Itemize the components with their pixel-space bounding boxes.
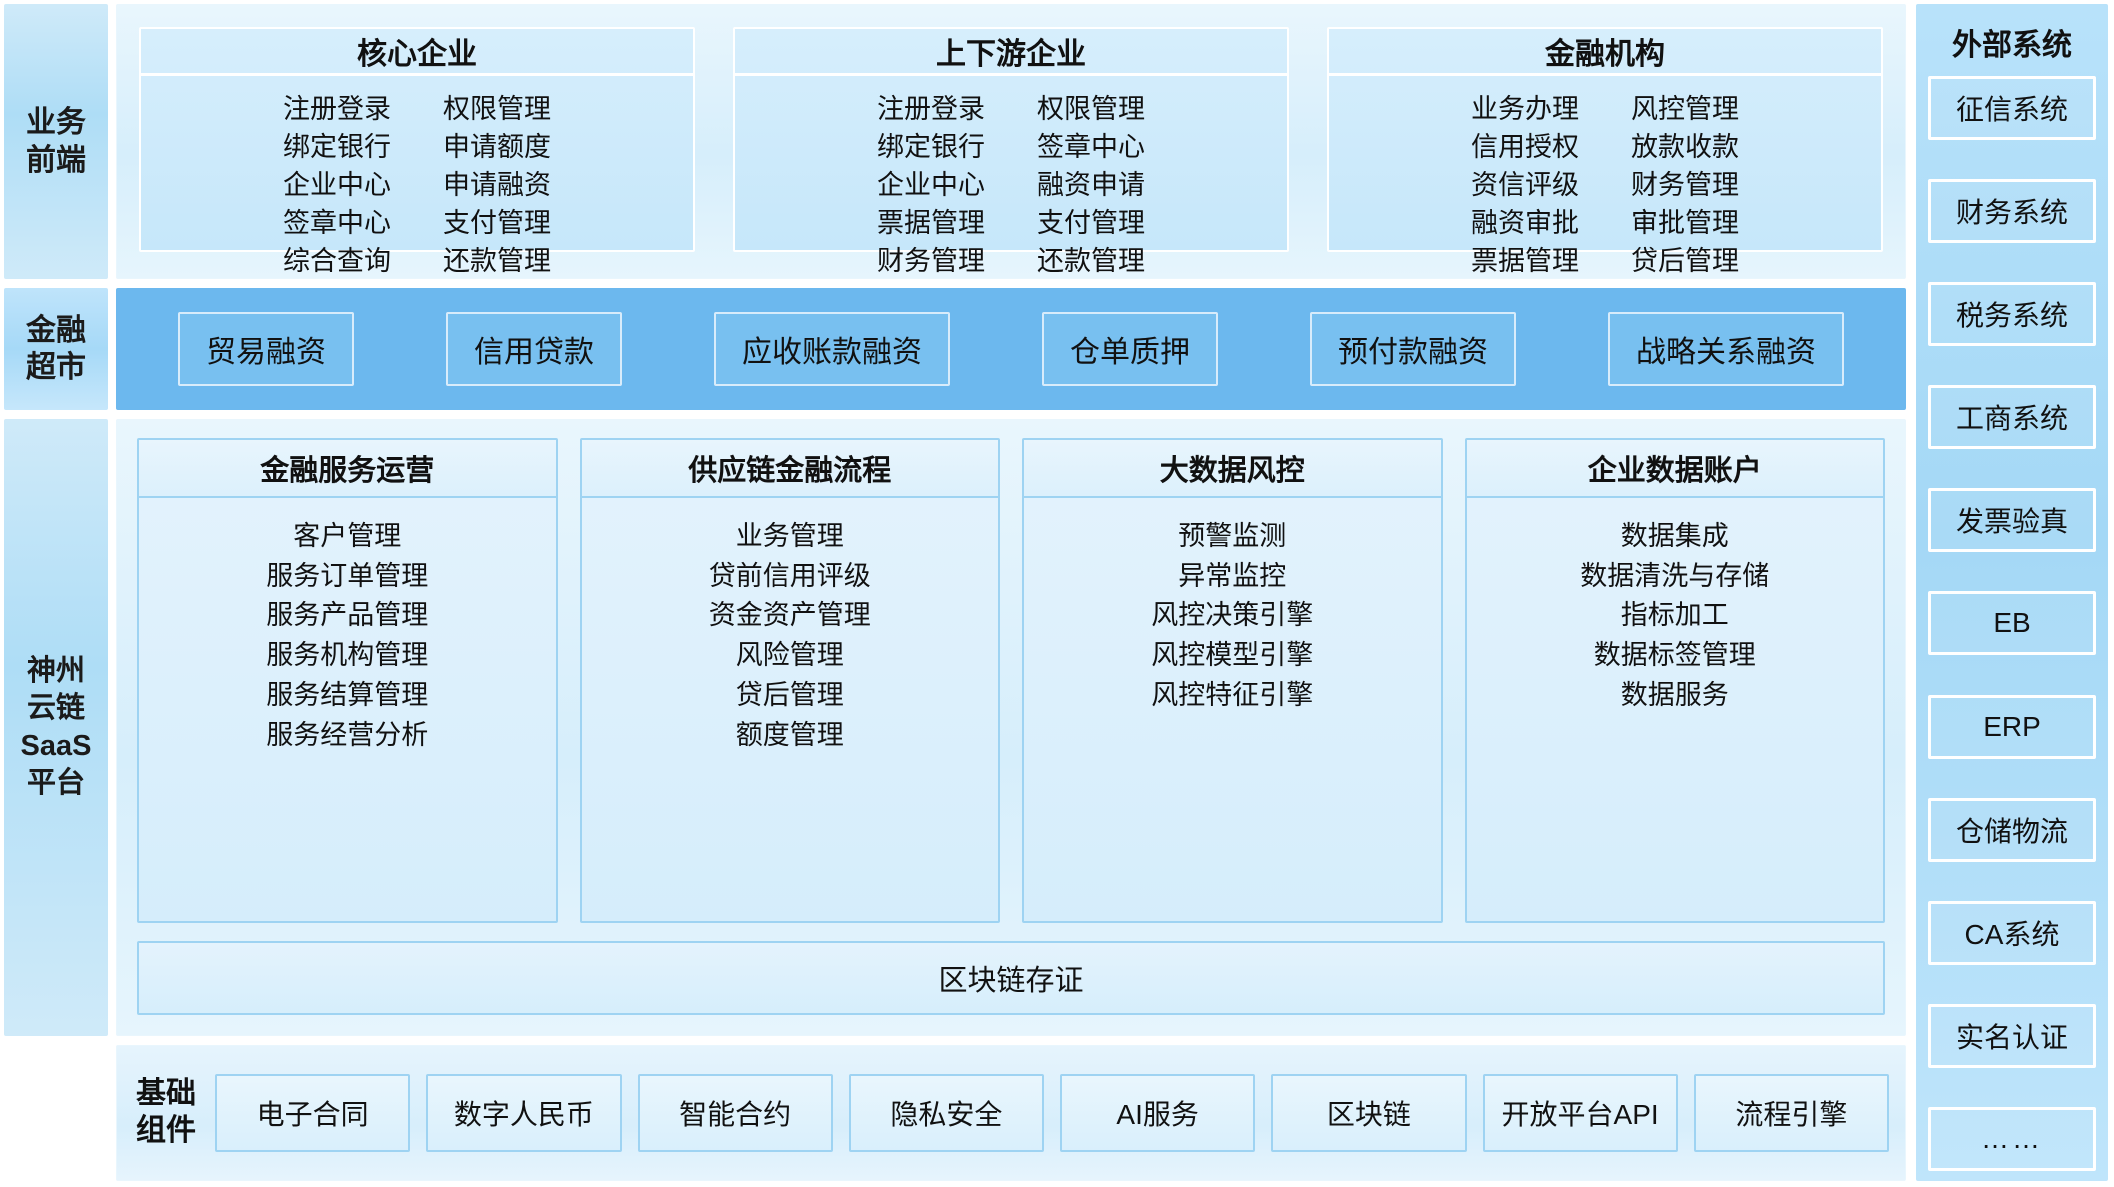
saas-item[interactable]: 贷后管理 [736, 677, 844, 714]
base-chip-blockchain[interactable]: 区块链 [1271, 1074, 1466, 1152]
base-chip-privacy-security[interactable]: 隐私安全 [849, 1074, 1044, 1152]
front-item[interactable]: 注册登录 [283, 92, 391, 128]
band-body-financial-market: 贸易融资 信用贷款 应收账款融资 仓单质押 预付款融资 战略关系融资 [116, 288, 1906, 410]
front-item[interactable]: 审批管理 [1631, 206, 1739, 242]
band-body-saas-platform: 金融服务运营 客户管理 服务订单管理 服务产品管理 服务机构管理 服务结算管理 … [116, 419, 1906, 1036]
architecture-diagram: 业务前端 核心企业 注册登录 绑定银行 企业中心 签章中心 综合查询 权限管理 [0, 0, 2114, 1187]
front-card-column-right: 权限管理 签章中心 融资申请 支付管理 还款管理 [1037, 92, 1145, 280]
front-item[interactable]: 业务办理 [1471, 92, 1579, 128]
base-chip-smart-contract[interactable]: 智能合约 [638, 1074, 833, 1152]
saas-item[interactable]: 资金资产管理 [709, 597, 871, 634]
external-systems-list: 征信系统 财务系统 税务系统 工商系统 发票验真 EB ERP 仓储物流 CA系… [1928, 76, 2096, 1171]
saas-item[interactable]: 额度管理 [736, 717, 844, 754]
saas-item[interactable]: 服务机构管理 [266, 637, 428, 674]
base-chip-digital-rmb[interactable]: 数字人民币 [426, 1074, 621, 1152]
band-saas-platform: 神州云链SaaS平台 金融服务运营 客户管理 服务订单管理 服务产品管理 服务机… [4, 419, 1906, 1036]
front-card-core-enterprise[interactable]: 核心企业 注册登录 绑定银行 企业中心 签章中心 综合查询 权限管理 申请额度 [139, 27, 695, 252]
front-item[interactable]: 贷后管理 [1631, 244, 1739, 280]
saas-card-list: 数据集成 数据清洗与存储 指标加工 数据标签管理 数据服务 [1467, 498, 1884, 921]
front-item[interactable]: 资信评级 [1471, 168, 1579, 204]
front-card-column-left: 业务办理 信用授权 资信评级 融资审批 票据管理 [1471, 92, 1579, 280]
saas-item[interactable]: 数据服务 [1621, 677, 1729, 714]
saas-item[interactable]: 服务产品管理 [266, 597, 428, 634]
sidebar-item-eb[interactable]: EB [1928, 591, 2096, 655]
saas-item[interactable]: 服务经营分析 [266, 717, 428, 754]
saas-card-group: 金融服务运营 客户管理 服务订单管理 服务产品管理 服务机构管理 服务结算管理 … [137, 438, 1885, 923]
saas-card-enterprise-data-account[interactable]: 企业数据账户 数据集成 数据清洗与存储 指标加工 数据标签管理 数据服务 [1465, 438, 1886, 923]
front-item[interactable]: 权限管理 [443, 92, 551, 128]
front-item[interactable]: 企业中心 [877, 168, 985, 204]
front-item[interactable]: 综合查询 [283, 244, 391, 280]
front-item[interactable]: 还款管理 [443, 244, 551, 280]
market-chip-prepayment-finance[interactable]: 预付款融资 [1310, 312, 1516, 386]
external-systems-sidebar: 外部系统 征信系统 财务系统 税务系统 工商系统 发票验真 EB ERP 仓储物… [1916, 4, 2108, 1181]
saas-card-list: 客户管理 服务订单管理 服务产品管理 服务机构管理 服务结算管理 服务经营分析 [139, 498, 556, 921]
saas-item[interactable]: 风控特征引擎 [1151, 677, 1313, 714]
sidebar-item-credit-system[interactable]: 征信系统 [1928, 76, 2096, 140]
front-card-upstream-downstream[interactable]: 上下游企业 注册登录 绑定银行 企业中心 票据管理 财务管理 权限管理 签章中心 [733, 27, 1289, 252]
saas-card-supply-chain-finance-process[interactable]: 供应链金融流程 业务管理 贷前信用评级 资金资产管理 风险管理 贷后管理 额度管… [580, 438, 1001, 923]
market-chip-credit-loan[interactable]: 信用贷款 [446, 312, 622, 386]
front-item[interactable]: 融资申请 [1037, 168, 1145, 204]
sidebar-item-warehouse-logistics[interactable]: 仓储物流 [1928, 798, 2096, 862]
front-card-financial-institution[interactable]: 金融机构 业务办理 信用授权 资信评级 融资审批 票据管理 风控管理 放款收款 [1327, 27, 1883, 252]
sidebar-item-real-name-authentication[interactable]: 实名认证 [1928, 1004, 2096, 1068]
front-card-title: 上下游企业 [735, 29, 1287, 76]
saas-item[interactable]: 贷前信用评级 [709, 558, 871, 595]
market-chip-receivables-finance[interactable]: 应收账款融资 [714, 312, 950, 386]
saas-card-financial-service-operation[interactable]: 金融服务运营 客户管理 服务订单管理 服务产品管理 服务机构管理 服务结算管理 … [137, 438, 558, 923]
front-card-column-right: 权限管理 申请额度 申请融资 支付管理 还款管理 [443, 92, 551, 280]
front-item[interactable]: 申请额度 [443, 130, 551, 166]
front-card-column-left: 注册登录 绑定银行 企业中心 票据管理 财务管理 [877, 92, 985, 280]
sidebar-item-erp[interactable]: ERP [1928, 695, 2096, 759]
front-item[interactable]: 票据管理 [1471, 244, 1579, 280]
blockchain-evidence-bar[interactable]: 区块链存证 [137, 941, 1885, 1015]
front-item[interactable]: 支付管理 [1037, 206, 1145, 242]
band-label-saas-platform: 神州云链SaaS平台 [4, 419, 108, 1036]
saas-card-title: 大数据风控 [1024, 440, 1441, 498]
front-item[interactable]: 财务管理 [877, 244, 985, 280]
saas-card-title: 金融服务运营 [139, 440, 556, 498]
band-base-components: 基础组件 电子合同 数字人民币 智能合约 隐私安全 AI服务 区块链 开放平台A… [4, 1045, 1906, 1181]
base-chip-electronic-contract[interactable]: 电子合同 [215, 1074, 410, 1152]
front-card-columns: 业务办理 信用授权 资信评级 融资审批 票据管理 风控管理 放款收款 财务管理 … [1329, 76, 1881, 288]
market-chip-strategic-relationship-finance[interactable]: 战略关系融资 [1608, 312, 1844, 386]
front-card-columns: 注册登录 绑定银行 企业中心 票据管理 财务管理 权限管理 签章中心 融资申请 … [735, 76, 1287, 288]
band-label-front-end: 业务前端 [4, 4, 108, 279]
base-chip-process-engine[interactable]: 流程引擎 [1694, 1074, 1889, 1152]
sidebar-item-finance-system[interactable]: 财务系统 [1928, 179, 2096, 243]
saas-card-title: 供应链金融流程 [582, 440, 999, 498]
front-item[interactable]: 票据管理 [877, 206, 985, 242]
front-item[interactable]: 放款收款 [1631, 130, 1739, 166]
saas-item[interactable]: 预警监测 [1178, 518, 1286, 555]
saas-item[interactable]: 风控决策引擎 [1151, 597, 1313, 634]
band-body-front-end: 核心企业 注册登录 绑定银行 企业中心 签章中心 综合查询 权限管理 申请额度 [116, 4, 1906, 279]
front-item[interactable]: 企业中心 [283, 168, 391, 204]
market-chip-trade-finance[interactable]: 贸易融资 [178, 312, 354, 386]
external-systems-title: 外部系统 [1928, 14, 2096, 76]
saas-item[interactable]: 服务订单管理 [266, 558, 428, 595]
front-item[interactable]: 绑定银行 [877, 130, 985, 166]
band-body-base-components: 基础组件 电子合同 数字人民币 智能合约 隐私安全 AI服务 区块链 开放平台A… [116, 1045, 1906, 1181]
front-item[interactable]: 签章中心 [283, 206, 391, 242]
front-item[interactable]: 申请融资 [443, 168, 551, 204]
sidebar-item-ca-system[interactable]: CA系统 [1928, 901, 2096, 965]
saas-item[interactable]: 服务结算管理 [266, 677, 428, 714]
saas-item[interactable]: 数据集成 [1621, 518, 1729, 555]
front-item[interactable]: 绑定银行 [283, 130, 391, 166]
sidebar-item-tax-system[interactable]: 税务系统 [1928, 282, 2096, 346]
sidebar-item-more[interactable]: …… [1928, 1107, 2096, 1171]
main-column: 业务前端 核心企业 注册登录 绑定银行 企业中心 签章中心 综合查询 权限管理 [4, 4, 1906, 1181]
saas-card-list: 预警监测 异常监控 风控决策引擎 风控模型引擎 风控特征引擎 [1024, 498, 1441, 921]
sidebar-item-invoice-verification[interactable]: 发票验真 [1928, 488, 2096, 552]
front-card-column-right: 风控管理 放款收款 财务管理 审批管理 贷后管理 [1631, 92, 1739, 280]
base-chip-ai-service[interactable]: AI服务 [1060, 1074, 1255, 1152]
saas-item[interactable]: 数据标签管理 [1594, 637, 1756, 674]
saas-item[interactable]: 风控模型引擎 [1151, 637, 1313, 674]
front-item[interactable]: 签章中心 [1037, 130, 1145, 166]
front-item[interactable]: 信用授权 [1471, 130, 1579, 166]
front-card-columns: 注册登录 绑定银行 企业中心 签章中心 综合查询 权限管理 申请额度 申请融资 … [141, 76, 693, 288]
saas-item[interactable]: 风险管理 [736, 637, 844, 674]
sidebar-item-business-registration-system[interactable]: 工商系统 [1928, 385, 2096, 449]
saas-card-bigdata-risk-control[interactable]: 大数据风控 预警监测 异常监控 风控决策引擎 风控模型引擎 风控特征引擎 [1022, 438, 1443, 923]
front-item[interactable]: 还款管理 [1037, 244, 1145, 280]
saas-card-title: 企业数据账户 [1467, 440, 1884, 498]
front-item[interactable]: 财务管理 [1631, 168, 1739, 204]
saas-item[interactable]: 客户管理 [293, 518, 401, 555]
front-item[interactable]: 支付管理 [443, 206, 551, 242]
front-item[interactable]: 注册登录 [877, 92, 985, 128]
band-financial-market: 金融超市 贸易融资 信用贷款 应收账款融资 仓单质押 预付款融资 战略关系融资 [4, 288, 1906, 410]
front-item[interactable]: 融资审批 [1471, 206, 1579, 242]
band-label-financial-market: 金融超市 [4, 288, 108, 410]
band-front-end: 业务前端 核心企业 注册登录 绑定银行 企业中心 签章中心 综合查询 权限管理 [4, 4, 1906, 279]
front-item[interactable]: 权限管理 [1037, 92, 1145, 128]
saas-item[interactable]: 数据清洗与存储 [1580, 558, 1769, 595]
saas-item[interactable]: 业务管理 [736, 518, 844, 555]
front-card-title: 金融机构 [1329, 29, 1881, 76]
base-components-label: 基础组件 [133, 1076, 199, 1149]
saas-item[interactable]: 指标加工 [1621, 597, 1729, 634]
saas-card-list: 业务管理 贷前信用评级 资金资产管理 风险管理 贷后管理 额度管理 [582, 498, 999, 921]
saas-item[interactable]: 异常监控 [1178, 558, 1286, 595]
market-chip-warehouse-receipt-pledge[interactable]: 仓单质押 [1042, 312, 1218, 386]
base-chip-open-platform-api[interactable]: 开放平台API [1483, 1074, 1678, 1152]
front-card-title: 核心企业 [141, 29, 693, 76]
front-card-column-left: 注册登录 绑定银行 企业中心 签章中心 综合查询 [283, 92, 391, 280]
front-item[interactable]: 风控管理 [1631, 92, 1739, 128]
